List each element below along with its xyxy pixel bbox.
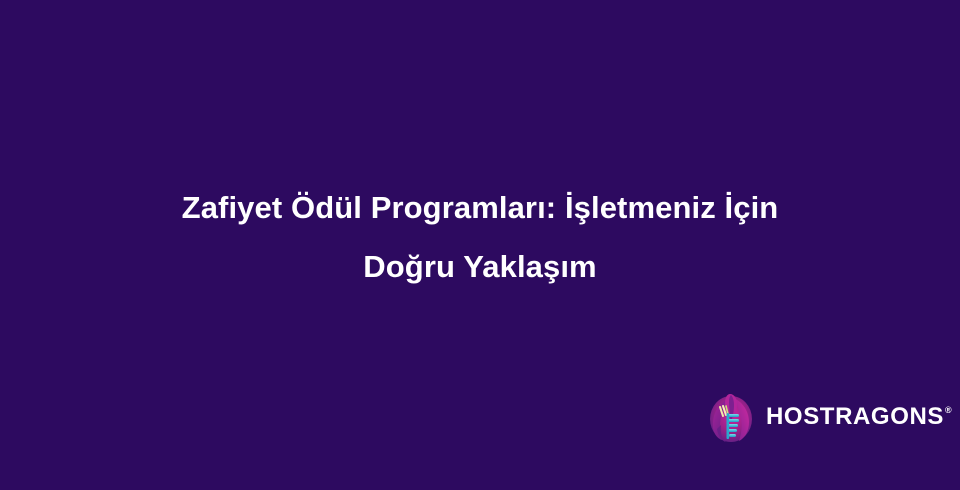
wordmark-text: HOSTRAGONS (766, 405, 944, 429)
title-line-2: Doğru Yaklaşım (0, 237, 960, 296)
registered-trademark-icon: ® (945, 406, 952, 415)
brand-logo: HOSTRAGONS® (707, 390, 951, 444)
page-title: Zafiyet Ödül Programları: İşletmeniz İçi… (0, 178, 960, 296)
hostragons-wordmark: HOSTRAGONS® (766, 405, 951, 429)
banner-canvas: Zafiyet Ödül Programları: İşletmeniz İçi… (0, 0, 960, 490)
hostragons-dragon-icon (707, 391, 755, 443)
title-line-1: Zafiyet Ödül Programları: İşletmeniz İçi… (0, 178, 960, 237)
